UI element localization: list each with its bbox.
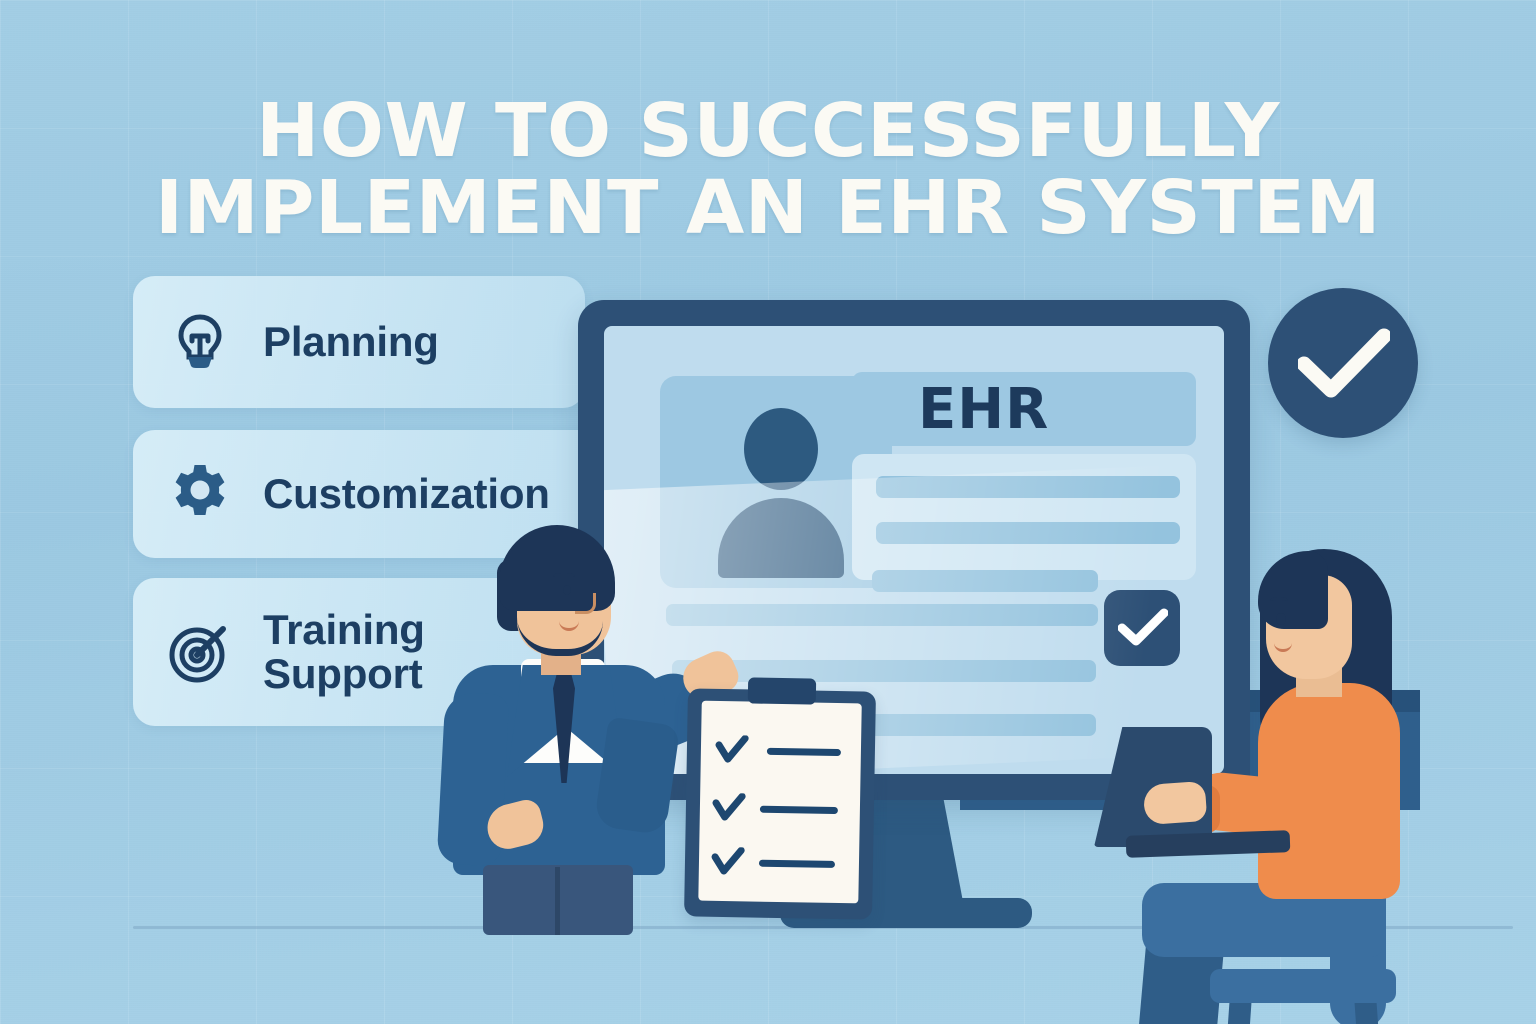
user-avatar-body bbox=[718, 498, 844, 578]
checklist-line bbox=[760, 805, 838, 813]
approved-check-badge bbox=[1268, 288, 1418, 438]
check-mark-icon bbox=[711, 847, 746, 878]
man-right-forearm bbox=[594, 717, 681, 836]
seated-woman-laptop-user bbox=[1090, 545, 1510, 1024]
record-line bbox=[876, 522, 1180, 544]
check-icon bbox=[1298, 328, 1390, 400]
title-line-2: Implement an EHR System bbox=[0, 171, 1536, 246]
man-trouser-seam bbox=[555, 867, 560, 935]
record-line bbox=[666, 604, 1098, 626]
check-mark-icon bbox=[715, 735, 750, 766]
woman-hand bbox=[1143, 781, 1208, 825]
man-eyebrow bbox=[553, 573, 575, 581]
gear-icon bbox=[163, 457, 237, 531]
ehr-header-label: EHR bbox=[918, 377, 1049, 442]
chair-seat bbox=[1210, 969, 1396, 1003]
presenter-man bbox=[425, 525, 685, 930]
woman-eyebrow bbox=[1270, 597, 1288, 606]
feature-card-label: Planning bbox=[263, 320, 439, 364]
target-icon bbox=[163, 615, 237, 689]
woman-eye bbox=[1276, 613, 1286, 625]
checklist-item bbox=[711, 847, 836, 879]
man-hair bbox=[499, 525, 615, 611]
lightbulb-icon bbox=[163, 305, 237, 379]
checklist-line bbox=[759, 859, 835, 867]
woman-hair-front bbox=[1258, 551, 1328, 629]
feature-card-planning[interactable]: Planning bbox=[133, 276, 585, 408]
record-line bbox=[872, 570, 1098, 592]
page-title: How to Successfully Implement an EHR Sys… bbox=[0, 94, 1536, 247]
clipboard-paper bbox=[698, 701, 861, 904]
record-line bbox=[876, 476, 1180, 498]
user-avatar-icon bbox=[744, 408, 818, 490]
infographic-canvas: How to Successfully Implement an EHR Sys… bbox=[0, 0, 1536, 1024]
feature-card-label: Customization bbox=[263, 472, 550, 516]
man-nose bbox=[575, 593, 596, 614]
checklist-clipboard bbox=[684, 688, 876, 919]
feature-card-label: Training Support bbox=[263, 608, 425, 695]
clipboard-clip bbox=[748, 677, 816, 704]
man-eye bbox=[563, 585, 571, 595]
title-line-1: How to Successfully bbox=[0, 94, 1536, 169]
checklist-item bbox=[712, 793, 839, 825]
check-mark-icon bbox=[712, 793, 747, 824]
ehr-header-bar: EHR bbox=[852, 372, 1196, 446]
checklist-line bbox=[767, 747, 841, 755]
checklist-item bbox=[715, 735, 842, 767]
